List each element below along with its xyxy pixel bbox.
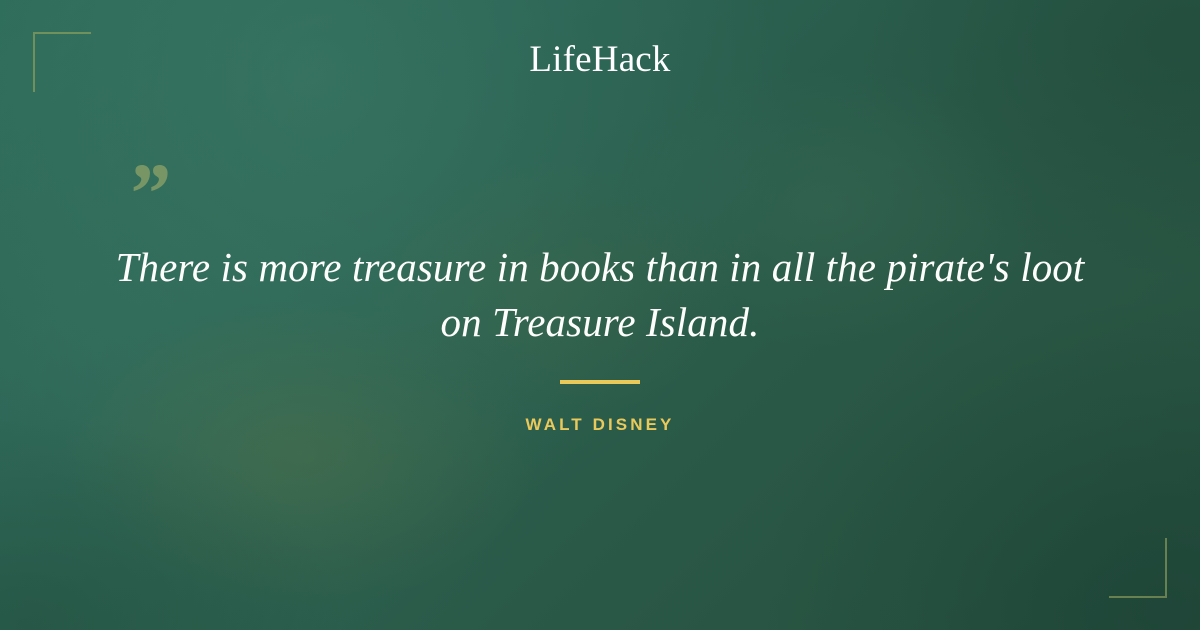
quote-author: WALT DISNEY	[0, 414, 1200, 436]
quote-block: There is more treasure in books than in …	[0, 240, 1200, 350]
lifehack-logo[interactable]: LifeHack	[0, 40, 1200, 80]
quote-line-2: on Treasure Island.	[96, 295, 1104, 350]
divider-rule	[560, 380, 640, 384]
quote-card: LifeHack ” There is more treasure in boo…	[0, 0, 1200, 630]
quote-line-1: There is more treasure in books than in …	[96, 240, 1104, 295]
bottom-right-corner-bracket	[1109, 538, 1167, 598]
quotation-mark-icon: ”	[126, 150, 169, 236]
